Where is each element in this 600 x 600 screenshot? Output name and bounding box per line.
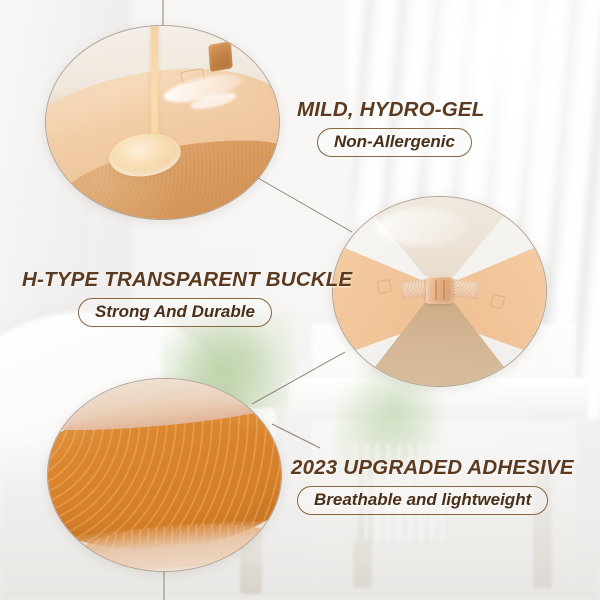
buckle-strap-left: [400, 279, 428, 299]
buckle-photo: [332, 196, 547, 387]
photo-gloss-highlight: [376, 208, 470, 246]
feature-badge: Strong And Durable: [78, 298, 272, 327]
feature-text-hydrogel: MILD, HYDRO-GEL Non-Allergenic: [297, 98, 485, 157]
h-type-buckle: [401, 277, 478, 303]
cup-tab-icon: [208, 41, 233, 72]
feature-badge: Breathable and lightweight: [297, 486, 548, 515]
feature-text-buckle: H-TYPE TRANSPARENT BUCKLE Strong And Dur…: [22, 268, 352, 327]
feature-badge: Non-Allergenic: [317, 128, 472, 157]
gel-stream: [151, 25, 158, 150]
infographic-canvas: MILD, HYDRO-GEL Non-Allergenic H-TYPE TR…: [0, 0, 600, 600]
feature-headline: MILD, HYDRO-GEL: [297, 98, 485, 122]
feature-headline: 2023 UPGRADED ADHESIVE: [291, 456, 574, 480]
buckle-clasp: [426, 277, 454, 303]
feature-text-adhesive: 2023 UPGRADED ADHESIVE Breathable and li…: [291, 456, 574, 515]
feature-headline: H-TYPE TRANSPARENT BUCKLE: [22, 268, 352, 292]
adhesive-photo: [47, 378, 282, 572]
buckle-strap-right: [451, 279, 479, 299]
gel-pour-photo: [45, 25, 280, 220]
